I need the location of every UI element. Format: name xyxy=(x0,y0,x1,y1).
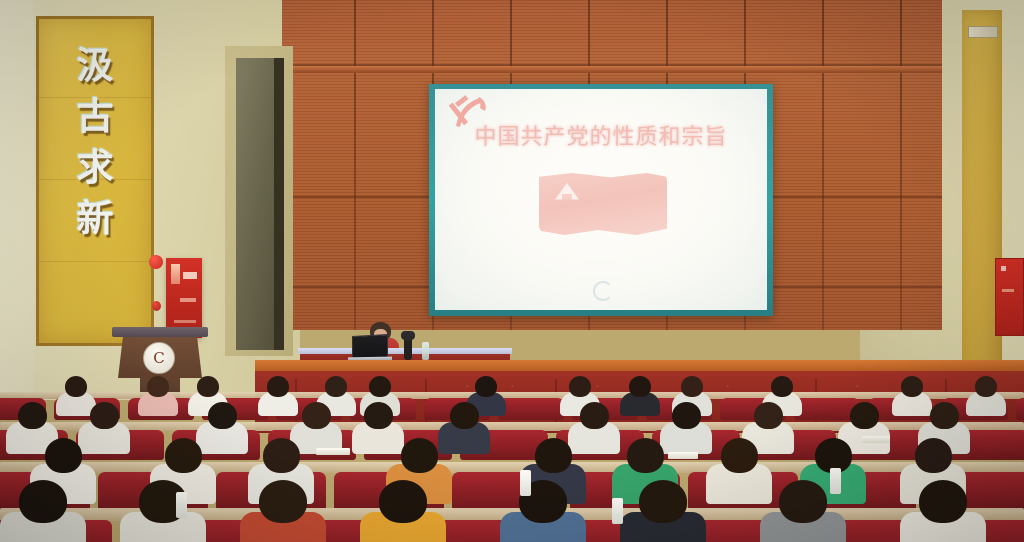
audience-member-head xyxy=(401,438,438,473)
auditorium-seat[interactable] xyxy=(498,398,564,420)
notebook xyxy=(668,452,698,459)
water-bottle xyxy=(422,342,429,360)
audience-member-head xyxy=(569,376,591,397)
wall-ledge xyxy=(282,66,942,73)
audience-member-head xyxy=(639,480,687,523)
audience-member-head xyxy=(975,376,997,397)
party-flag-graphic xyxy=(539,173,667,235)
stage-door-shadow xyxy=(274,58,284,350)
audience-member-head xyxy=(754,402,783,429)
notebook xyxy=(316,448,350,455)
crest-letter: C xyxy=(153,351,164,366)
audience-member-head xyxy=(267,376,289,397)
audience-seating xyxy=(0,376,1024,542)
audience-member-head xyxy=(19,480,67,523)
audience-member-head xyxy=(263,438,300,473)
audience-member-head xyxy=(259,480,307,523)
audience-member-head xyxy=(915,438,952,473)
audience-member-head xyxy=(45,438,82,473)
red-lantern-ornament xyxy=(149,255,163,269)
water-cup xyxy=(176,492,187,518)
water-cup xyxy=(830,468,841,494)
audience-member xyxy=(620,480,706,542)
red-wall-banner xyxy=(166,258,202,338)
audience-member-head xyxy=(65,376,87,397)
wall-plate xyxy=(968,26,998,38)
audience-member-head xyxy=(475,376,497,397)
audience-member-head xyxy=(771,376,793,397)
wall-motto: 汲 古 求 新 xyxy=(39,47,151,237)
audience-member xyxy=(620,376,660,410)
wall-cornice xyxy=(282,0,942,9)
audience-member-head xyxy=(629,376,651,397)
audience-member-head xyxy=(364,402,393,429)
audience-member-head xyxy=(681,376,703,397)
audience-member-head xyxy=(165,438,202,473)
audience-member-head xyxy=(208,402,237,429)
notebook xyxy=(862,436,890,443)
audience-member-head xyxy=(302,402,331,429)
audience-member-head xyxy=(379,480,427,523)
audience-member-head xyxy=(779,480,827,523)
audience-member xyxy=(500,480,586,542)
lecture-hall-photo: 汲 古 求 新 xyxy=(0,0,1024,542)
podium-top xyxy=(112,327,208,337)
audience-member-head xyxy=(197,376,219,397)
audience-member-head xyxy=(850,402,879,429)
audience-member xyxy=(240,480,326,542)
audience-member-head xyxy=(450,402,479,429)
far-left-wall xyxy=(0,0,34,400)
audience-member xyxy=(900,480,986,542)
motto-char-2: 古 xyxy=(77,98,114,135)
water-cup xyxy=(612,498,623,524)
audience-member xyxy=(966,376,1006,410)
microphone xyxy=(404,336,412,360)
wall-notice-sign xyxy=(995,258,1024,336)
audience-member-head xyxy=(325,376,347,397)
audience-member-head xyxy=(90,402,119,429)
institution-crest-icon: C xyxy=(143,342,175,374)
calligraphy-panel: 汲 古 求 新 xyxy=(36,16,154,346)
slide-title: 中国共产党的性质和宗旨 xyxy=(435,119,767,151)
red-ball-ornament xyxy=(152,301,161,311)
audience-member-head xyxy=(901,376,923,397)
projection-screen: 中国共产党的性质和宗旨 xyxy=(435,89,767,310)
audience-member-head xyxy=(535,438,572,473)
auditorium-seat[interactable] xyxy=(1016,398,1024,420)
audience-member-head xyxy=(930,402,959,429)
motto-char-3: 求 xyxy=(77,149,114,186)
audience-member xyxy=(138,376,178,410)
audience-member-head xyxy=(919,480,967,523)
audience-member-head xyxy=(672,402,701,429)
audience-member xyxy=(0,480,86,542)
motto-char-1: 汲 xyxy=(77,47,114,84)
audience-member-head xyxy=(627,438,664,473)
audience-member-head xyxy=(147,376,169,397)
water-cup xyxy=(520,470,531,496)
audience-member xyxy=(120,480,206,542)
audience-member-head xyxy=(580,402,609,429)
audience-member-head xyxy=(369,376,391,397)
motto-char-4: 新 xyxy=(77,200,114,237)
slide-loading-icon xyxy=(593,281,613,301)
audience-member xyxy=(360,480,446,542)
audience-member-head xyxy=(721,438,758,473)
audience-member-head xyxy=(18,402,47,429)
